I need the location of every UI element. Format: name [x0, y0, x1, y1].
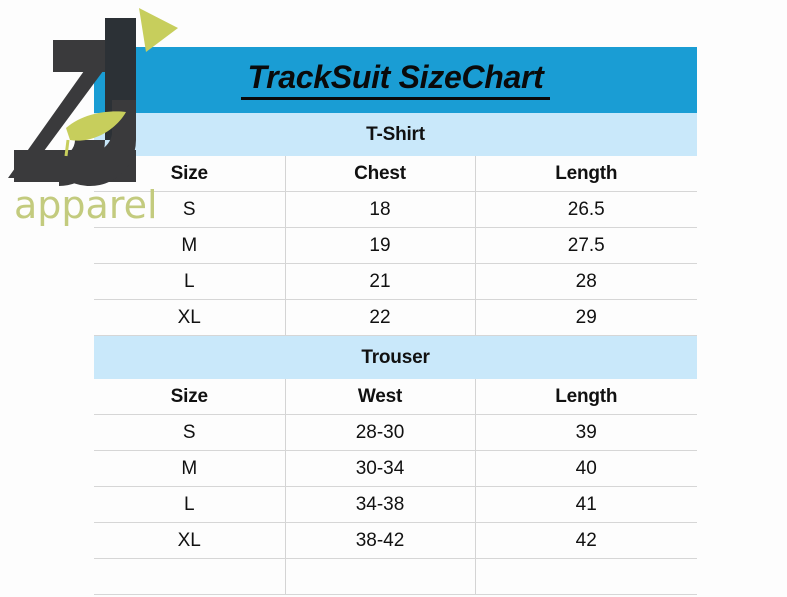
cell-length: 40: [475, 451, 697, 487]
table-row: XL 38-42 42: [94, 523, 697, 559]
cell-west: 34-38: [285, 487, 475, 523]
table-trouser: Size West Length S 28-30 39 M 30-34 40 L…: [94, 379, 697, 595]
section-header-trouser: Trouser: [94, 336, 697, 379]
cell-size: M: [94, 228, 285, 264]
cell-chest: 22: [285, 300, 475, 336]
cell-empty: [475, 559, 697, 595]
table-row: L 34-38 41: [94, 487, 697, 523]
column-header-length: Length: [475, 156, 697, 192]
chart-title: TrackSuit SizeChart: [241, 60, 549, 100]
triangle-accent-icon: [139, 8, 178, 52]
table-header-row: Size Chest Length: [94, 156, 697, 192]
table-row: S 18 26.5: [94, 192, 697, 228]
cell-size: XL: [94, 523, 285, 559]
cell-length: 27.5: [475, 228, 697, 264]
table-row-empty: [94, 559, 697, 595]
table-row: XL 22 29: [94, 300, 697, 336]
table-tshirt: Size Chest Length S 18 26.5 M 19 27.5 L …: [94, 156, 697, 336]
table-row: S 28-30 39: [94, 415, 697, 451]
table-row: L 21 28: [94, 264, 697, 300]
table-row: M 19 27.5: [94, 228, 697, 264]
cell-chest: 21: [285, 264, 475, 300]
cell-length: 41: [475, 487, 697, 523]
cell-chest: 18: [285, 192, 475, 228]
cell-length: 29: [475, 300, 697, 336]
cell-length: 42: [475, 523, 697, 559]
cell-length: 28: [475, 264, 697, 300]
section-title-trouser: Trouser: [361, 347, 429, 369]
cell-size: L: [94, 264, 285, 300]
section-header-tshirt: T-Shirt: [94, 113, 697, 156]
cell-size: S: [94, 415, 285, 451]
cell-west: 28-30: [285, 415, 475, 451]
table-header-row: Size West Length: [94, 379, 697, 415]
size-chart: TrackSuit SizeChart T-Shirt Size Chest L…: [94, 47, 697, 595]
table-row: M 30-34 40: [94, 451, 697, 487]
column-header-size: Size: [94, 379, 285, 415]
cell-empty: [94, 559, 285, 595]
cell-size: M: [94, 451, 285, 487]
column-header-chest: Chest: [285, 156, 475, 192]
cell-size: XL: [94, 300, 285, 336]
column-header-west: West: [285, 379, 475, 415]
column-header-length: Length: [475, 379, 697, 415]
cell-chest: 19: [285, 228, 475, 264]
cell-length: 39: [475, 415, 697, 451]
column-header-size: Size: [94, 156, 285, 192]
cell-length: 26.5: [475, 192, 697, 228]
section-title-tshirt: T-Shirt: [366, 124, 425, 146]
cell-empty: [285, 559, 475, 595]
cell-west: 30-34: [285, 451, 475, 487]
chart-title-band: TrackSuit SizeChart: [94, 47, 697, 113]
cell-size: L: [94, 487, 285, 523]
cell-size: S: [94, 192, 285, 228]
cell-west: 38-42: [285, 523, 475, 559]
